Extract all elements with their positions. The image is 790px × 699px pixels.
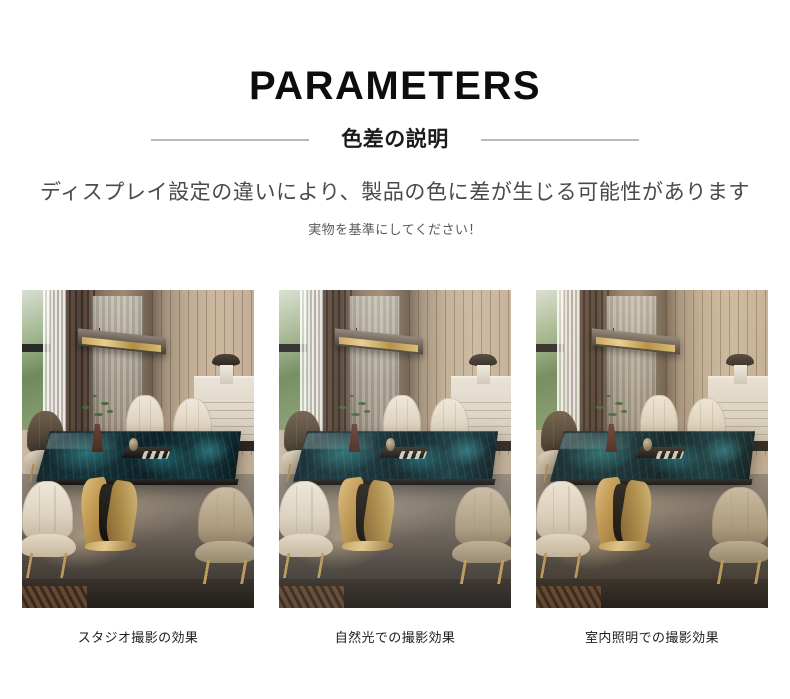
tray-cups	[398, 451, 426, 459]
chair-legs	[713, 560, 766, 585]
tray-cups	[141, 451, 169, 459]
photo-caption: 室内照明での撮影効果	[536, 630, 768, 647]
divider-line-right	[481, 139, 639, 141]
page-subtitle: 色差の説明	[341, 129, 449, 150]
plant-branches	[78, 382, 122, 430]
tray-decor-object	[129, 438, 138, 451]
chair-legs	[23, 553, 72, 578]
chair-backrest	[198, 487, 254, 546]
table-reflection	[302, 433, 377, 449]
tray-decor-object	[386, 438, 395, 451]
page-header: PARAMETERS 色差の説明	[0, 0, 790, 150]
table-reflection	[45, 433, 120, 449]
divider-line-left	[151, 139, 309, 141]
floor-parquet-strip	[279, 586, 344, 608]
subtitle-row: 色差の説明	[0, 129, 790, 150]
table-reflection	[559, 433, 634, 449]
photo-card[interactable]: スタジオ撮影の効果	[22, 290, 254, 647]
chair-backrest	[712, 487, 768, 546]
plant-branches	[335, 382, 379, 430]
photo-caption: 自然光での撮影効果	[279, 630, 511, 647]
dining-room-scene	[536, 290, 768, 608]
tray-decor-object	[643, 438, 652, 451]
photo-gallery: スタジオ撮影の効果	[22, 290, 768, 647]
description-main-text: ディスプレイ設定の違いにより、製品の色に差が生じる可能性があります	[0, 178, 790, 208]
photo-image-indoor[interactable]	[536, 290, 768, 608]
chair-backrest	[455, 487, 511, 546]
floor-parquet-strip	[22, 586, 87, 608]
floor-parquet-strip	[536, 586, 601, 608]
photo-image-natural[interactable]	[279, 290, 511, 608]
chair-backrest	[22, 481, 73, 540]
chair-front-right	[198, 487, 254, 582]
tray-cups	[655, 451, 683, 459]
chair-front-right	[712, 487, 768, 582]
page-title: PARAMETERS	[0, 64, 790, 108]
chair-backrest	[279, 481, 330, 540]
chair-front-right	[455, 487, 511, 582]
plant-branches	[592, 382, 636, 430]
table-lamp-base	[220, 365, 233, 384]
photo-caption: スタジオ撮影の効果	[22, 630, 254, 647]
chair-legs	[280, 553, 329, 578]
photo-card[interactable]: 自然光での撮影効果	[279, 290, 511, 647]
description-block: ディスプレイ設定の違いにより、製品の色に差が生じる可能性があります 実物を基準に…	[0, 178, 790, 240]
chair-front-left	[536, 481, 587, 576]
photo-card[interactable]: 室内照明での撮影効果	[536, 290, 768, 647]
table-lamp-base	[734, 365, 747, 384]
dining-room-scene	[22, 290, 254, 608]
table-lamp-base	[477, 365, 490, 384]
chair-legs	[537, 553, 586, 578]
chair-backrest	[536, 481, 587, 540]
description-note-text: 実物を基準にしてください！	[0, 221, 790, 239]
chair-front-left	[279, 481, 330, 576]
chair-front-left	[22, 481, 73, 576]
chair-legs	[199, 560, 252, 585]
chair-legs	[456, 560, 509, 585]
dining-room-scene	[279, 290, 511, 608]
photo-image-studio[interactable]	[22, 290, 254, 608]
page-root: PARAMETERS 色差の説明 ディスプレイ設定の違いにより、製品の色に差が生…	[0, 0, 790, 699]
